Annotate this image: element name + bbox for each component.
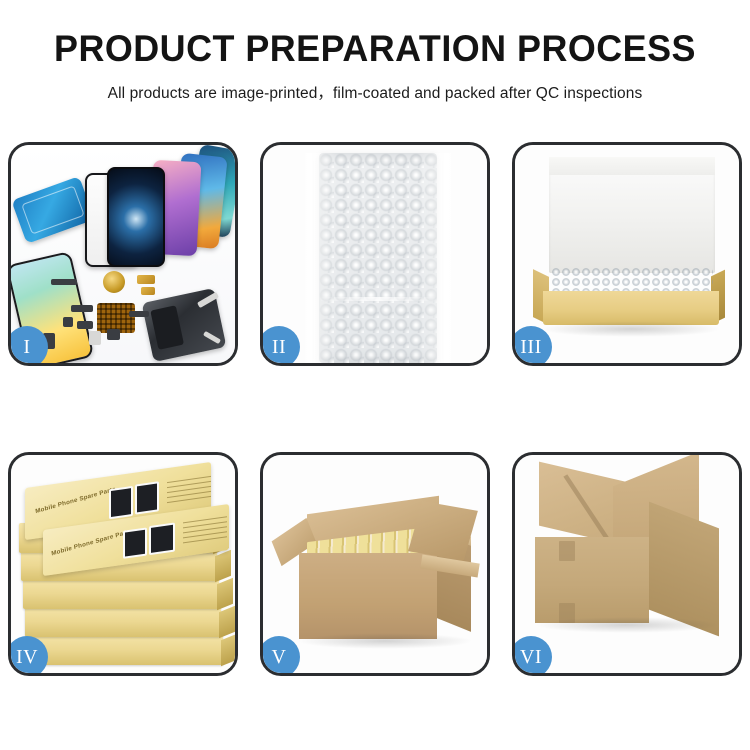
gold-clip-part: [141, 287, 155, 295]
speaker-part: [77, 321, 93, 329]
box-screen-graphic-a: [109, 486, 133, 519]
process-step-card-2[interactable]: II: [260, 142, 490, 366]
small-flex-part: [71, 305, 93, 312]
products-and-parts-image: [11, 145, 235, 363]
box-screen-graphic-d: [149, 523, 175, 556]
inner-box-front-face: [543, 291, 719, 325]
flex-cable-part: [51, 279, 77, 285]
bubble-wrap-image: [263, 145, 487, 363]
process-step-card-5[interactable]: V: [260, 452, 490, 676]
sealed-carton-shadow: [535, 617, 719, 633]
box-screen-graphic-b: [135, 481, 159, 514]
box-label-front: Mobile Phone Spare Parts: [51, 528, 132, 557]
sealed-carton-image: [515, 455, 739, 673]
process-step-card-6[interactable]: VI: [512, 452, 742, 676]
antenna-flex-part: [129, 311, 149, 317]
bubble-wrap-sleeve: [319, 153, 437, 363]
gold-bracket-part: [137, 275, 155, 284]
step-badge-1: I: [8, 326, 48, 366]
step-badge-5: V: [260, 636, 300, 676]
step-badge-4: IV: [8, 636, 48, 676]
bubble-wrap-seam: [321, 297, 435, 301]
sealed-carton-side-face: [649, 502, 719, 637]
page-header: PRODUCT PREPARATION PROCESS All products…: [0, 0, 750, 103]
page-subtitle: All products are image-printed，film-coat…: [0, 81, 750, 103]
vibrator-part: [107, 329, 120, 340]
copper-coil-part: [103, 271, 125, 293]
process-step-card-4[interactable]: Mobile Phone Spare Parts Mobile Phone Sp…: [8, 452, 238, 676]
retail-box-stack: Mobile Phone Spare Parts Mobile Phone Sp…: [15, 473, 233, 665]
carton-shadow: [297, 633, 473, 649]
step-badge-6: VI: [512, 636, 552, 676]
step-badge-2: II: [260, 326, 300, 366]
camera-module-part: [63, 317, 73, 327]
carton-front-face: [299, 553, 437, 639]
stacked-box-3: [23, 579, 219, 609]
sim-tray-part: [89, 331, 101, 345]
carton-tab-upper: [559, 541, 575, 561]
lid-fold-crease: [549, 157, 715, 175]
box-screen-graphic-c: [123, 527, 147, 558]
inner-box-packing-image: [515, 145, 739, 363]
carton-filling-image: [263, 455, 487, 673]
page-title: PRODUCT PREPARATION PROCESS: [11, 30, 739, 69]
bubble-wrapped-contents: [551, 267, 713, 293]
process-step-grid: I II III: [8, 142, 742, 676]
inner-box-shadow: [541, 321, 721, 337]
sealed-carton-front-face: [535, 537, 649, 623]
step-badge-3: III: [512, 326, 552, 366]
process-step-card-3[interactable]: III: [512, 142, 742, 366]
phone-dark-swirl: [107, 167, 165, 267]
boxed-stack-image: Mobile Phone Spare Parts Mobile Phone Sp…: [11, 455, 235, 673]
box-label-rear: Mobile Phone Spare Parts: [35, 486, 116, 515]
adhesive-back-cover: [11, 176, 94, 244]
stacked-box-5: [27, 635, 223, 665]
stacked-box-4: [25, 607, 221, 637]
process-step-card-1[interactable]: I: [8, 142, 238, 366]
